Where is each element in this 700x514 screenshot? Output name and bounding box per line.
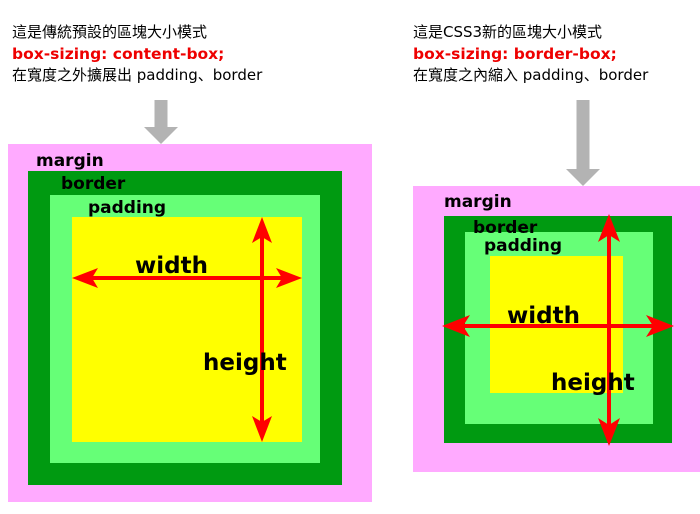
content-box-padding-area: padding (50, 195, 320, 463)
content-box-height-ruler (249, 207, 275, 452)
label-border: border (473, 220, 537, 237)
dimension-label-width: width (135, 255, 208, 278)
label-padding: padding (88, 200, 166, 217)
label-border: border (61, 176, 125, 193)
dimension-label-width: width (507, 305, 580, 328)
guide-arrow-head (144, 127, 178, 144)
content-box-border-area: border padding (28, 171, 342, 485)
guide-arrow-down-right (567, 100, 599, 186)
label-margin: margin (444, 194, 512, 211)
guide-arrow-head (566, 169, 600, 186)
caption-code-declaration: box-sizing: border-box; (413, 43, 648, 65)
dimension-label-height: height (551, 372, 635, 395)
guide-arrow-shaft (577, 100, 590, 169)
caption-line-3: 在寬度之外擴展出 padding、border (12, 65, 262, 86)
caption-border-box: 這是CSS3新的區塊大小模式 box-sizing: border-box; 在… (413, 22, 648, 87)
guide-arrow-shaft (155, 100, 168, 127)
caption-content-box: 這是傳統預設的區塊大小模式 box-sizing: content-box; 在… (12, 22, 262, 87)
label-padding: padding (484, 238, 562, 255)
border-box-height-ruler (596, 206, 622, 454)
label-margin: margin (36, 153, 104, 170)
caption-line-1: 這是CSS3新的區塊大小模式 (413, 22, 648, 43)
caption-code-declaration: box-sizing: content-box; (12, 43, 262, 65)
caption-line-1: 這是傳統預設的區塊大小模式 (12, 22, 262, 43)
content-box-margin-area: margin border padding (8, 144, 372, 502)
guide-arrow-down-left (145, 100, 177, 144)
dimension-label-height: height (203, 352, 287, 375)
diagram-canvas: 這是傳統預設的區塊大小模式 box-sizing: content-box; 在… (0, 0, 700, 514)
caption-line-3: 在寬度之內縮入 padding、border (413, 65, 648, 86)
